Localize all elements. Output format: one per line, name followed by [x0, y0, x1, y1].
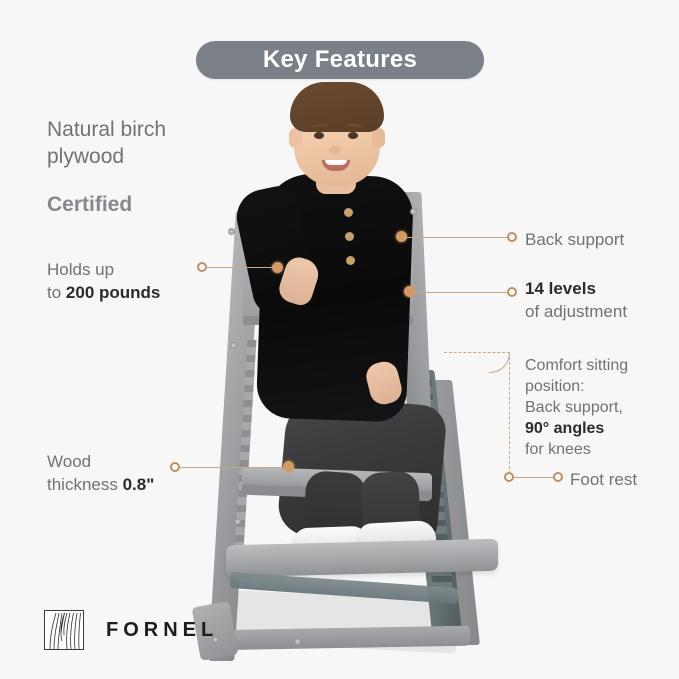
child-eye-left — [314, 132, 324, 139]
screw-icon — [410, 208, 417, 215]
child-hair — [290, 82, 384, 132]
brand-name: FORNEL — [106, 619, 218, 642]
child-nose — [329, 146, 341, 154]
child-ear-right — [372, 128, 385, 148]
connector-line-wood-thickness — [179, 467, 286, 468]
angle-bracket-90-degrees — [444, 352, 518, 474]
connector-endpoint-wood-thickness — [283, 461, 294, 472]
label-comfort-line2: position: — [525, 378, 585, 395]
label-material-line2: plywood — [47, 145, 124, 168]
label-material-line1: Natural birch — [47, 118, 166, 141]
label-comfort-position: Comfort sittingposition:Back support,90°… — [525, 355, 675, 460]
connector-dot-adjustment-levels — [507, 287, 517, 297]
label-levels-value: 14 levels — [525, 279, 596, 298]
label-weight-value: 200 pounds — [66, 283, 160, 302]
screw-icon — [294, 638, 301, 645]
brand-logo: FORNEL — [44, 610, 218, 650]
key-features-banner: Key Features — [196, 41, 484, 79]
shirt-button-1 — [344, 208, 353, 217]
label-comfort-angle: 90° angles — [525, 420, 604, 437]
label-thickness-value: 0.8" — [123, 475, 155, 494]
connector-line-back-support — [404, 237, 508, 238]
bracket-vertical-dashed-line — [509, 352, 510, 474]
label-levels-suffix: of adjustment — [525, 302, 627, 321]
page-title: Key Features — [263, 46, 417, 74]
connector-dot-foot-rest-right — [553, 472, 563, 482]
connector-endpoint-weight-capacity — [272, 262, 283, 273]
label-comfort-line3: Back support, — [525, 399, 623, 416]
connector-line-adjustment-levels — [412, 292, 508, 293]
label-adjustment-levels: 14 levelsof adjustment — [525, 277, 670, 323]
connector-line-foot-rest — [513, 477, 555, 478]
shirt-button-3 — [346, 256, 355, 265]
label-certified: Certified — [47, 192, 132, 217]
child-eye-right — [348, 132, 358, 139]
wood-grain-square-icon — [44, 610, 84, 650]
right-angle-arc-icon — [489, 352, 510, 373]
screw-icon — [230, 342, 237, 349]
product-photo-chair-with-child — [186, 80, 516, 610]
label-comfort-line1: Comfort sitting — [525, 357, 628, 374]
label-comfort-line5: for knees — [525, 441, 591, 458]
chair-footrest-plate — [226, 539, 498, 578]
infographic-page: Key Features Natural birch plywood Certi… — [0, 0, 679, 679]
label-back-support: Back support — [525, 228, 624, 251]
label-foot-rest: Foot rest — [570, 468, 637, 491]
child-teeth — [325, 160, 347, 165]
connector-line-weight-capacity — [206, 267, 276, 268]
label-thickness-prefix: Wood thickness — [47, 452, 123, 494]
shirt-button-2 — [345, 232, 354, 241]
screw-icon — [228, 228, 235, 235]
screw-icon — [234, 518, 241, 525]
connector-dot-back-support — [507, 232, 517, 242]
